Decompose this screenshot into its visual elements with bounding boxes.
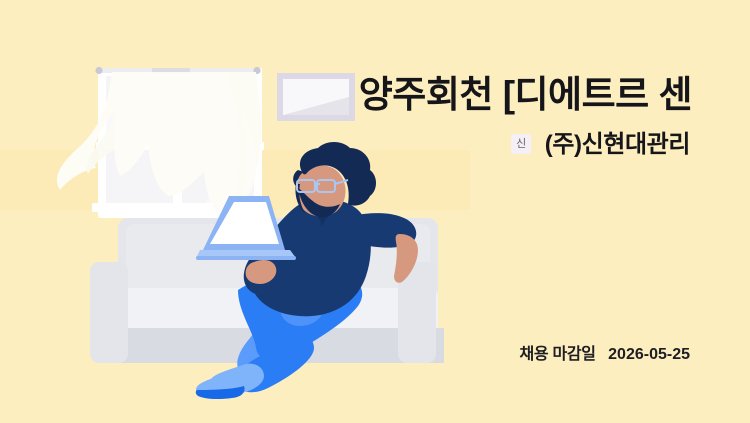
job-title[interactable]: 양주회천 [디에트르 센 (359, 72, 692, 118)
laptop-base-edge (196, 256, 296, 260)
deadline-date: 2026-05-25 (608, 346, 690, 363)
company-row: 신 (주)신현대관리 (0, 130, 690, 160)
new-badge: 신 (511, 134, 531, 154)
deadline-row: 채용 마감일 2026-05-25 (0, 340, 690, 364)
job-title-row: 양주회천 [디에트르 센 (0, 72, 692, 118)
job-posting-card[interactable]: 양주회천 [디에트르 센 신 (주)신현대관리 채용 마감일 2026-05-2… (0, 0, 750, 423)
deadline-label: 채용 마감일 (519, 346, 595, 363)
company-name[interactable]: (주)신현대관리 (545, 130, 690, 160)
